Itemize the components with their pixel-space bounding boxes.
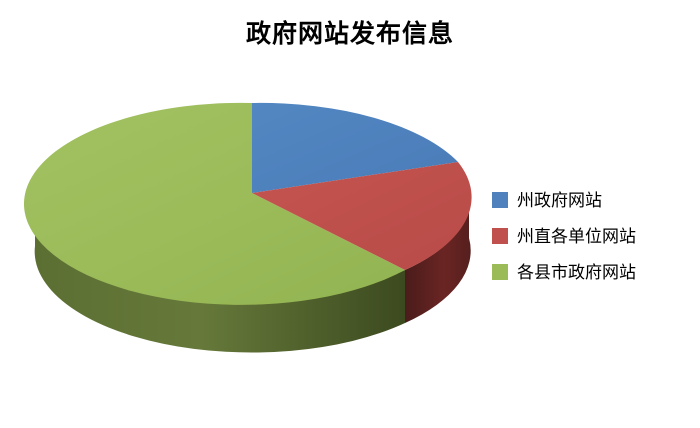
pie-plot-area bbox=[18, 88, 488, 378]
pie-chart-container: 政府网站发布信息 bbox=[0, 0, 700, 428]
legend-swatch-green-icon bbox=[492, 264, 508, 280]
legend-swatch-red-icon bbox=[492, 228, 508, 244]
legend-item-各县市政府网站[interactable]: 各县市政府网站 bbox=[492, 254, 697, 290]
legend-label: 州政府网站 bbox=[517, 192, 602, 209]
pie-svg bbox=[18, 88, 488, 378]
legend-label: 各县市政府网站 bbox=[517, 264, 636, 281]
legend-swatch-blue-icon bbox=[492, 192, 508, 208]
chart-legend: 州政府网站 州直各单位网站 各县市政府网站 bbox=[492, 182, 697, 290]
legend-item-州直各单位网站[interactable]: 州直各单位网站 bbox=[492, 218, 697, 254]
legend-label: 州直各单位网站 bbox=[517, 228, 636, 245]
legend-item-州政府网站[interactable]: 州政府网站 bbox=[492, 182, 697, 218]
chart-title: 政府网站发布信息 bbox=[0, 14, 700, 50]
